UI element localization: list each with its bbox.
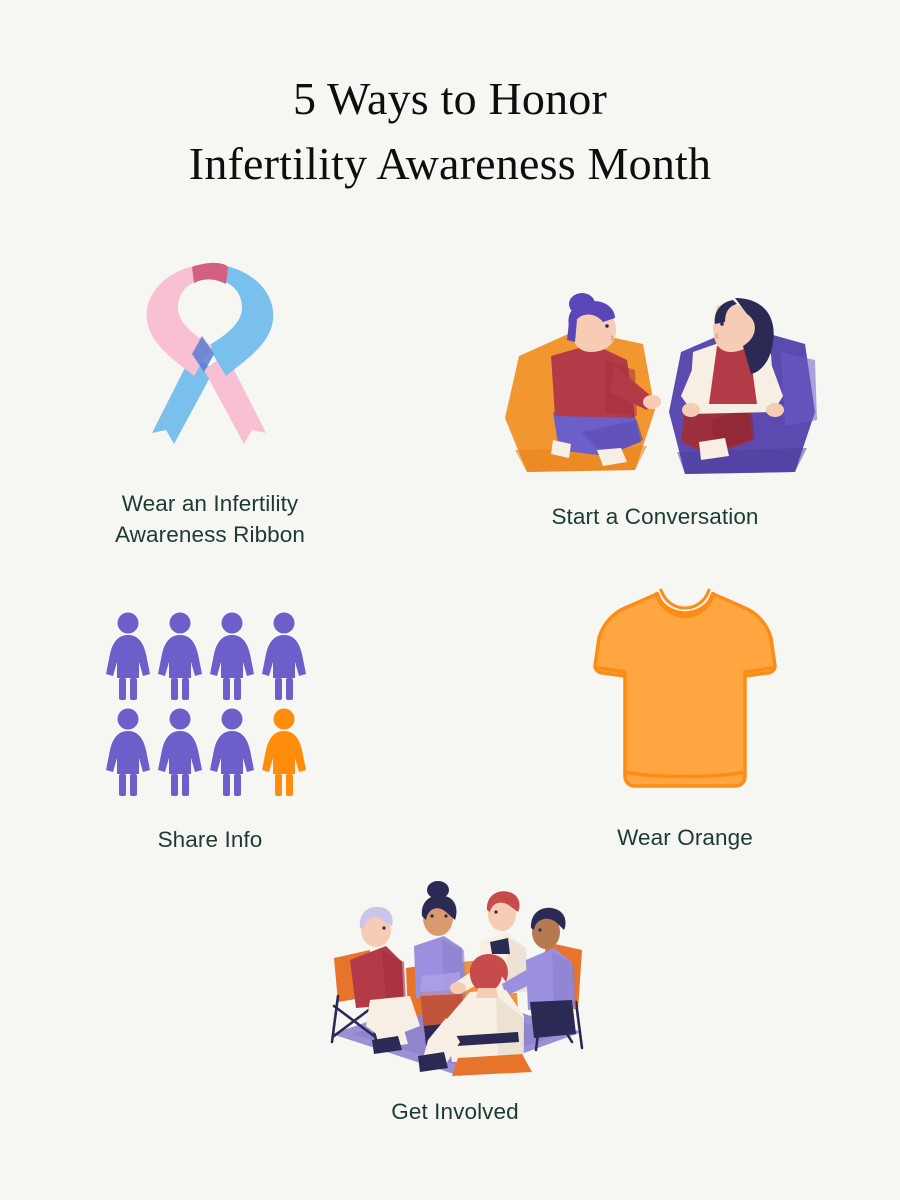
- item-share-info: Share Info: [55, 612, 365, 855]
- item-label-wear-orange: Wear Orange: [560, 822, 810, 853]
- label-line-1: Start a Conversation: [470, 501, 840, 532]
- item-label-start-conversation: Start a Conversation: [470, 501, 840, 532]
- item-label-get-involved: Get Involved: [300, 1096, 610, 1127]
- page-title-line-1: 5 Ways to Honor: [0, 66, 900, 131]
- support-group-circle-icon: [310, 850, 600, 1082]
- tshirt-icon: [595, 580, 775, 800]
- page-title-line-2: Infertility Awareness Month: [0, 131, 900, 196]
- label-line-1: Get Involved: [300, 1096, 610, 1127]
- item-wear-orange: Wear Orange: [560, 580, 810, 853]
- awareness-ribbon-icon: [130, 258, 290, 468]
- page-title: 5 Ways to Honor Infertility Awareness Mo…: [0, 66, 900, 197]
- label-line-1: Wear an Infertility: [40, 488, 380, 519]
- item-wear-ribbon: Wear an Infertility Awareness Ribbon: [40, 258, 380, 550]
- item-label-wear-ribbon: Wear an Infertility Awareness Ribbon: [40, 488, 380, 550]
- label-line-2: Awareness Ribbon: [40, 519, 380, 550]
- poster-canvas: 5 Ways to Honor Infertility Awareness Mo…: [0, 0, 900, 1200]
- item-get-involved: Get Involved: [300, 850, 610, 1127]
- item-start-conversation: Start a Conversation: [470, 300, 840, 532]
- two-people-talking-icon: [485, 300, 825, 485]
- label-line-1: Wear Orange: [560, 822, 810, 853]
- eight-people-statistic-icon: [103, 612, 318, 802]
